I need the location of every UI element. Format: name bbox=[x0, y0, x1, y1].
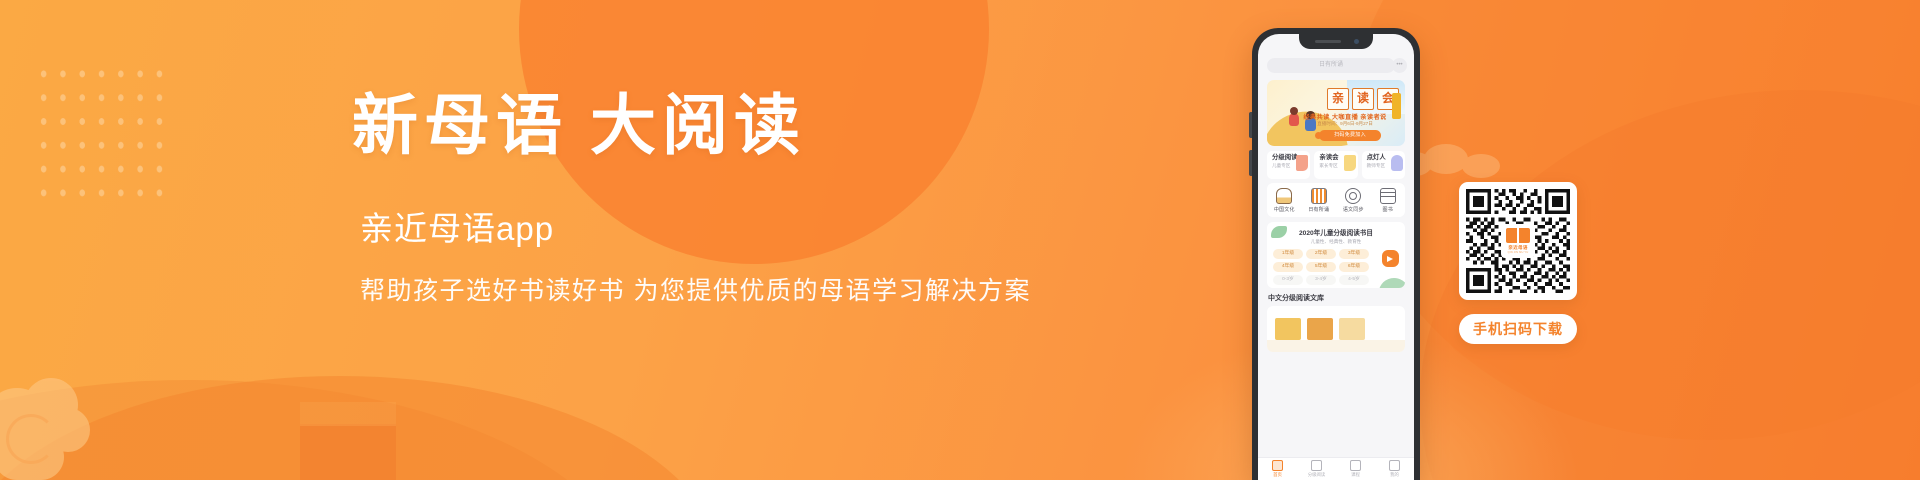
book-cover[interactable] bbox=[1307, 318, 1333, 340]
course-icon bbox=[1350, 460, 1361, 471]
booklist-title: 2020年儿童分级阅读书目 bbox=[1267, 227, 1405, 237]
book-icon bbox=[1380, 188, 1396, 204]
grade-pill[interactable]: 3年级 bbox=[1339, 249, 1369, 259]
category-card-parent-club[interactable]: 亲读会 家长专区 bbox=[1314, 151, 1357, 179]
page-title: 新母语大阅读 bbox=[352, 92, 1052, 158]
tab-label: 首页 bbox=[1260, 472, 1296, 478]
qr-section: 亲近母语 QIN JIN MU YU 手机扫码下载 bbox=[1459, 182, 1577, 344]
headline-part-1: 新母语 bbox=[352, 86, 568, 164]
age-pill[interactable]: 4-5岁 bbox=[1339, 275, 1369, 285]
phone-screen: 日有所诵 ••• 亲 读 会 经典共读 大咖直播 亲读者说 直播时间：9月6日-… bbox=[1258, 34, 1414, 480]
promo-char-2: 读 bbox=[1352, 88, 1374, 110]
promo-banner: 新母语大阅读 亲近母语app 帮助孩子选好书读好书 为您提供优质的母语学习解决方… bbox=[0, 0, 1920, 480]
brand-pinyin: QIN JIN MU YU bbox=[1508, 251, 1529, 254]
grade-pill[interactable]: 6年级 bbox=[1339, 262, 1369, 272]
age-pill[interactable]: 0-3岁 bbox=[1273, 275, 1303, 285]
sync-icon bbox=[1345, 188, 1361, 204]
phone-mockup: 日有所诵 ••• 亲 读 会 经典共读 大咖直播 亲读者说 直播时间：9月6日-… bbox=[1252, 28, 1420, 480]
headline-part-2: 大阅读 bbox=[590, 86, 806, 164]
quick-link-sync[interactable]: 语文同步 bbox=[1338, 188, 1368, 213]
banner-tagline: 帮助孩子选好书读好书 为您提供优质的母语学习解决方案 bbox=[360, 279, 1052, 304]
dot-grid-decoration bbox=[34, 62, 172, 210]
promo-subtitle: 经典共读 大咖直播 亲读者说 bbox=[1291, 112, 1399, 121]
tab-graded-reading[interactable]: 分级阅读 bbox=[1299, 460, 1335, 478]
background-cube bbox=[300, 424, 396, 480]
promo-title: 亲 读 会 bbox=[1327, 88, 1399, 110]
grade-pill[interactable]: 5年级 bbox=[1306, 262, 1336, 272]
quick-link-books[interactable]: 图书 bbox=[1373, 188, 1403, 213]
book-cover[interactable] bbox=[1275, 318, 1301, 340]
booklist-subtitle: 儿童性、经典性、教育性 bbox=[1267, 239, 1405, 245]
quick-link-label: 日有所诵 bbox=[1304, 206, 1334, 213]
qr-code-card[interactable]: 亲近母语 QIN JIN MU YU bbox=[1459, 182, 1577, 300]
quick-link-culture[interactable]: 中国文化 bbox=[1269, 188, 1299, 213]
book-cover[interactable] bbox=[1339, 318, 1365, 340]
swirl-decoration-icon bbox=[6, 414, 56, 464]
promo-cta-button[interactable]: 扫码免费加入 bbox=[1319, 130, 1381, 141]
home-icon bbox=[1272, 460, 1283, 471]
phone-notch bbox=[1299, 34, 1373, 49]
search-placeholder: 日有所诵 bbox=[1267, 58, 1395, 73]
page-icon bbox=[1344, 155, 1356, 171]
age-pill[interactable]: 3-4岁 bbox=[1306, 275, 1336, 285]
promo-char-1: 亲 bbox=[1327, 88, 1349, 110]
category-card-graded-reading[interactable]: 分级阅读 儿童专区 bbox=[1267, 151, 1310, 179]
quick-links-row: 中国文化 日有所诵 语文同步 图书 bbox=[1267, 183, 1405, 217]
culture-icon bbox=[1276, 188, 1292, 204]
tab-home[interactable]: 首页 bbox=[1260, 460, 1296, 478]
grade-pill[interactable]: 2年级 bbox=[1306, 249, 1336, 259]
tab-profile[interactable]: 我的 bbox=[1377, 460, 1413, 478]
bottom-tab-bar: 首页 分级阅读 课程 我的 bbox=[1258, 457, 1414, 480]
promo-date: 直播时间：9月6日-9月27日 bbox=[1291, 121, 1399, 127]
tab-label: 我的 bbox=[1377, 472, 1413, 478]
quick-link-label: 中国文化 bbox=[1269, 206, 1299, 213]
booklist-card[interactable]: 2020年儿童分级阅读书目 儿童性、经典性、教育性 1年级 2年级 3年级 4年… bbox=[1267, 222, 1405, 288]
category-card-teacher[interactable]: 点灯人 教师专区 bbox=[1362, 151, 1405, 179]
library-section-title: 中文分级阅读文库 bbox=[1268, 293, 1324, 303]
grade-pill[interactable]: 1年级 bbox=[1273, 249, 1303, 259]
bookmark-icon bbox=[1296, 155, 1308, 171]
library-shelf[interactable] bbox=[1267, 306, 1405, 352]
download-button[interactable]: 手机扫码下载 bbox=[1459, 314, 1577, 344]
tab-label: 分级阅读 bbox=[1299, 472, 1335, 478]
more-icon[interactable]: ••• bbox=[1392, 58, 1407, 73]
app-promo-banner[interactable]: 亲 读 会 经典共读 大咖直播 亲读者说 直播时间：9月6日-9月27日 扫码免… bbox=[1267, 80, 1405, 146]
banner-copy: 新母语大阅读 亲近母语app 帮助孩子选好书读好书 为您提供优质的母语学习解决方… bbox=[352, 92, 1052, 304]
play-video-button[interactable] bbox=[1382, 250, 1399, 267]
recite-icon bbox=[1311, 188, 1327, 204]
tab-label: 课程 bbox=[1338, 472, 1374, 478]
tab-courses[interactable]: 课程 bbox=[1338, 460, 1374, 478]
quick-link-label: 图书 bbox=[1373, 206, 1403, 213]
app-search-input[interactable]: 日有所诵 bbox=[1267, 58, 1395, 73]
reading-icon bbox=[1311, 460, 1322, 471]
profile-icon bbox=[1389, 460, 1400, 471]
quick-link-recite[interactable]: 日有所诵 bbox=[1304, 188, 1334, 213]
grade-pill[interactable]: 4年级 bbox=[1273, 262, 1303, 272]
quick-link-label: 语文同步 bbox=[1338, 206, 1368, 213]
grade-pills: 1年级 2年级 3年级 4年级 5年级 6年级 0-3岁 3-4岁 4-5岁 5… bbox=[1273, 249, 1399, 288]
brand-logo: 亲近母语 QIN JIN MU YU bbox=[1501, 224, 1535, 258]
person-icon bbox=[1391, 155, 1403, 171]
app-name: 亲近母语app bbox=[360, 212, 1052, 245]
category-cards: 分级阅读 儿童专区 亲读会 家长专区 点灯人 教师专区 bbox=[1267, 151, 1405, 179]
open-book-icon bbox=[1506, 228, 1530, 243]
